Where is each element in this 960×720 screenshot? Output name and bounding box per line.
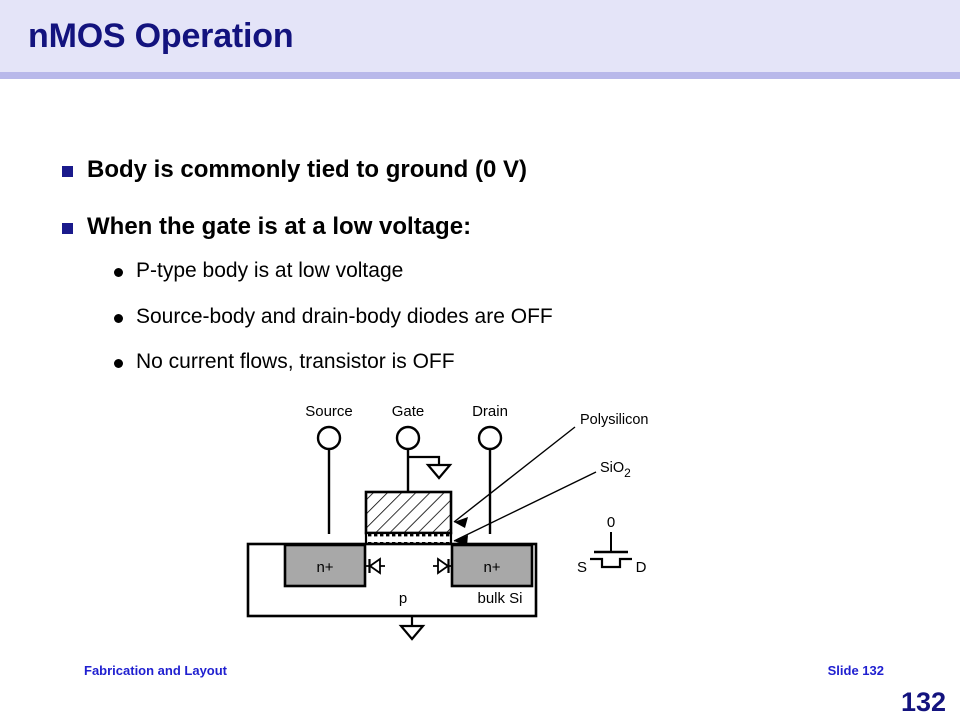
- footer-right-text: Slide 132: [828, 663, 884, 678]
- bullet-level1-label: When the gate is at a low voltage:: [87, 214, 471, 240]
- terminal-label-source: Source: [305, 403, 353, 420]
- terminal-node-gate: [397, 427, 419, 449]
- gate-ground-wire: [408, 457, 439, 465]
- header-divider-rule: [0, 72, 960, 79]
- bullet-level2-0: P-type body is at low voltage: [114, 259, 403, 282]
- schematic-drain-label: D: [636, 559, 647, 576]
- bullet-level1-1: When the gate is at a low voltage:: [62, 214, 471, 240]
- transistor-schematic-symbol: 0 S D: [577, 514, 647, 576]
- bullet-level2-label: Source-body and drain-body diodes are OF…: [136, 305, 553, 328]
- page-number: 132: [901, 687, 946, 718]
- bullet-level2-label: P-type body is at low voltage: [136, 259, 403, 282]
- page-title: nMOS Operation: [28, 17, 293, 56]
- bullet-level2-2: No current flows, transistor is OFF: [114, 350, 455, 373]
- square-bullet-icon: [62, 166, 73, 177]
- dot-bullet-icon: [114, 314, 123, 323]
- callout-label-sio2: SiO2: [600, 460, 631, 480]
- callout-arrowhead-polysilicon: [454, 517, 468, 528]
- footer-left-text: Fabrication and Layout: [84, 663, 227, 678]
- n-plus-label: n+: [316, 559, 333, 576]
- ground-symbol-gate-icon: [428, 465, 450, 478]
- ground-symbol-bulk-icon: [401, 626, 423, 639]
- callout-leader-sio2: [454, 472, 596, 541]
- schematic-gate-value: 0: [607, 514, 615, 531]
- bullet-level2-label: No current flows, transistor is OFF: [136, 350, 455, 373]
- terminal-node-source: [318, 427, 340, 449]
- gate-oxide-layer: [366, 533, 451, 544]
- substrate-label-p: p: [399, 590, 407, 607]
- bullet-level2-1: Source-body and drain-body diodes are OF…: [114, 305, 553, 328]
- polysilicon-gate-block: [366, 492, 451, 533]
- schematic-source-label: S: [577, 559, 587, 576]
- callout-leader-polysilicon: [454, 427, 575, 522]
- square-bullet-icon: [62, 223, 73, 234]
- callout-label-polysilicon: Polysilicon: [580, 412, 649, 428]
- terminal-node-drain: [479, 427, 501, 449]
- schematic-channel: [590, 559, 632, 567]
- bullet-level1-0: Body is commonly tied to ground (0 V): [62, 157, 527, 183]
- dot-bullet-icon: [114, 359, 123, 368]
- terminal-label-drain: Drain: [472, 403, 508, 420]
- terminal-label-gate: Gate: [392, 403, 425, 420]
- nmos-cross-section-diagram: Source Gate Drain n+ n+: [230, 395, 710, 645]
- dot-bullet-icon: [114, 268, 123, 277]
- n-plus-label: n+: [483, 559, 500, 576]
- substrate-label-bulk-si: bulk Si: [477, 590, 522, 607]
- bullet-level1-label: Body is commonly tied to ground (0 V): [87, 157, 527, 183]
